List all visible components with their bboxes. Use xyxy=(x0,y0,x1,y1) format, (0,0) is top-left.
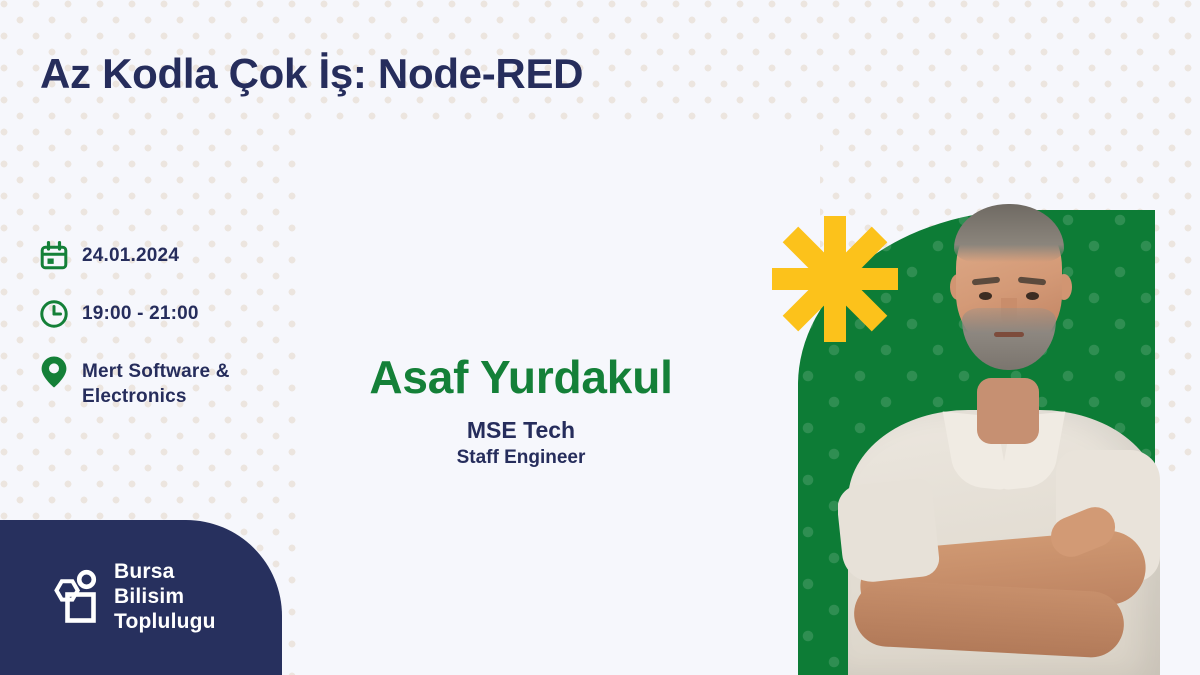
logo-line-1: Bursa xyxy=(114,560,216,585)
event-location: Mert Software & Electronics xyxy=(82,354,316,409)
clock-icon xyxy=(36,296,72,332)
logo-line-3: Toplulugu xyxy=(114,610,216,635)
event-date: 24.01.2024 xyxy=(82,238,179,268)
speaker-portrait xyxy=(838,182,1168,675)
event-poster: Az Kodla Çok İş: Node-RED 24.01.2024 xyxy=(0,0,1200,675)
detail-row-location: Mert Software & Electronics xyxy=(36,354,316,409)
dot-pattern-mask-right xyxy=(300,120,820,540)
speaker-role: Staff Engineer xyxy=(296,447,746,469)
speaker-info: Asaf Yurdakul MSE Tech Staff Engineer xyxy=(296,352,746,469)
event-details: 24.01.2024 19:00 - 21:00 Mert Software &… xyxy=(36,238,316,431)
speaker-company: MSE Tech xyxy=(296,417,746,444)
page-title: Az Kodla Çok İş: Node-RED xyxy=(40,50,583,98)
location-pin-icon xyxy=(36,354,72,390)
detail-row-date: 24.01.2024 xyxy=(36,238,316,274)
community-logo-text: Bursa Bilisim Toplulugu xyxy=(114,560,216,634)
speaker-name: Asaf Yurdakul xyxy=(296,352,746,403)
bursa-bilisim-toplulugu-logo-icon xyxy=(48,567,102,629)
logo-line-2: Bilisim xyxy=(114,585,216,610)
detail-row-time: 19:00 - 21:00 xyxy=(36,296,316,332)
calendar-icon xyxy=(36,238,72,274)
community-logo-badge: Bursa Bilisim Toplulugu xyxy=(0,520,282,675)
event-time: 19:00 - 21:00 xyxy=(82,296,199,326)
